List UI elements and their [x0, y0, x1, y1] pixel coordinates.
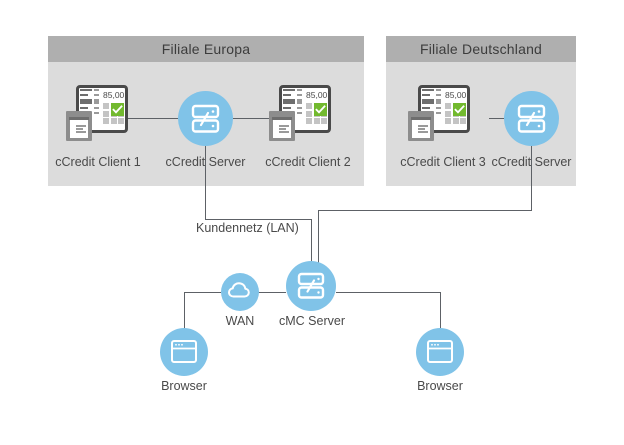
node-label-browser-left: Browser: [149, 379, 219, 393]
cloud-glyph: [221, 273, 259, 311]
checkmark-icon: [314, 103, 327, 116]
checkmark-icon: [453, 103, 466, 116]
keypad-key: [321, 118, 327, 124]
checkmark-icon: [111, 103, 124, 116]
keypad-key: [453, 118, 459, 124]
lan-bus-left-segment: [205, 219, 311, 220]
server-icon-cmc: [286, 261, 336, 311]
keypad-key: [118, 118, 124, 124]
keypad-key: [103, 118, 109, 124]
browser-window-icon-right: [416, 328, 464, 376]
link-right-bus-to-browser-right: [440, 292, 441, 328]
pos-amount-client1: 85,00: [103, 90, 124, 100]
node-label-browser-right: Browser: [405, 379, 475, 393]
keypad-key: [445, 118, 451, 124]
keypad-key: [111, 118, 117, 124]
pos-terminal-icon-client1: 85,00: [66, 85, 128, 143]
keypad-key: [445, 111, 451, 117]
node-label-server-deutschland: cCredit Server: [476, 155, 587, 169]
node-label-client2: cCredit Client 2: [248, 155, 368, 169]
printer-paper: [273, 120, 291, 138]
node-label-cmc-server: cMC Server: [271, 314, 353, 328]
pos-terminal-icon-client3: 85,00: [408, 85, 470, 143]
server-icon-deutschland: [504, 91, 559, 146]
node-label-wan: WAN: [205, 314, 275, 328]
keypad-key: [306, 103, 312, 109]
branch-panel-deutschland-title: Filiale Deutschland: [386, 36, 576, 62]
link-left-bus-to-browser-left: [184, 292, 185, 328]
printer-paper: [70, 120, 88, 138]
keypad-key: [445, 103, 451, 109]
server-glyph: [178, 91, 233, 146]
node-label-server-europa: cCredit Server: [150, 155, 261, 169]
link-server-deutschland-down: [531, 141, 532, 210]
link-client1-to-server-europa: [128, 118, 178, 119]
diagram-canvas: Filiale Europa Filiale Deutschland Kunde…: [0, 0, 624, 445]
printer-icon: [408, 111, 434, 141]
browser-window-icon-left: [160, 328, 208, 376]
keypad-key: [306, 118, 312, 124]
keypad-key: [306, 111, 312, 117]
browser-glyph: [160, 328, 208, 376]
branch-panel-europa-title: Filiale Europa: [48, 36, 364, 62]
keypad-key: [103, 111, 109, 117]
printer-icon: [66, 111, 92, 141]
browser-glyph: [416, 328, 464, 376]
server-glyph: [504, 91, 559, 146]
server-icon-europa: [178, 91, 233, 146]
keypad-key: [103, 103, 109, 109]
printer-paper: [412, 120, 430, 138]
keypad-key: [460, 118, 466, 124]
printer-icon: [269, 111, 295, 141]
link-server-europa-down: [205, 141, 206, 219]
cloud-icon-wan: [221, 273, 259, 311]
server-glyph: [286, 261, 336, 311]
node-label-client1: cCredit Client 1: [38, 155, 158, 169]
lan-label: Kundennetz (LAN): [196, 221, 316, 235]
link-wan-to-left-bus: [184, 292, 221, 293]
lan-bus-right-segment: [318, 210, 532, 211]
link-cmc-to-right-bus: [336, 292, 440, 293]
pos-amount-client3: 85,00: [445, 90, 466, 100]
pos-terminal-icon-client2: 85,00: [269, 85, 331, 143]
keypad-key: [314, 118, 320, 124]
pos-amount-client2: 85,00: [306, 90, 327, 100]
